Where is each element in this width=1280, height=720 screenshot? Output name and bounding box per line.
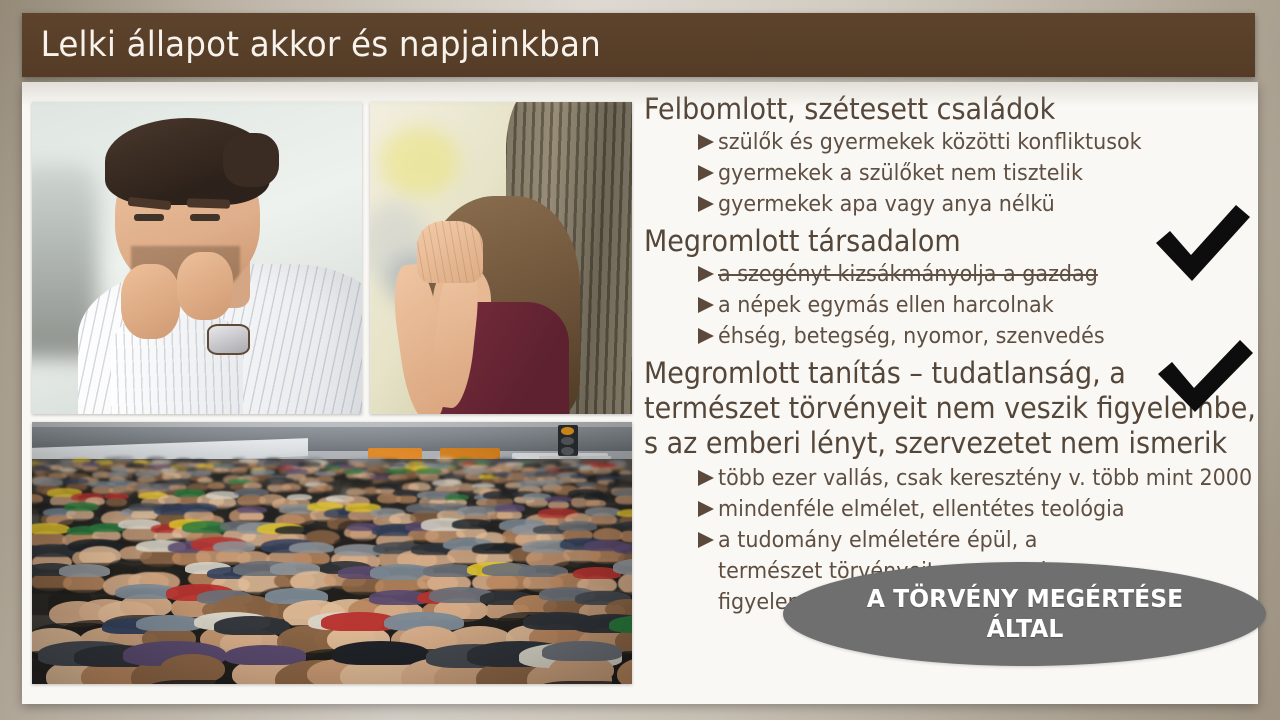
list-item: a népek egymás ellen harcolnak: [644, 290, 1258, 321]
list-item-label: a népek egymás ellen harcolnak: [718, 290, 1054, 321]
triangle-bullet-icon: [698, 501, 714, 517]
list-item-label: a szegényt kizsákmányolja a gazdag: [718, 259, 1098, 290]
list-item: több ezer vallás, csak keresztény v. töb…: [644, 463, 1258, 494]
list-item-label: gyermekek a szülőket nem tisztelik: [718, 158, 1083, 189]
slide-content-panel: СТОП Felbomlott, szétesett családok szül…: [22, 82, 1258, 704]
checkmark-2: [1152, 338, 1258, 418]
crowd-photo: СТОП: [32, 422, 632, 684]
text-column: Felbomlott, szétesett családok szülők és…: [644, 86, 1258, 700]
triangle-bullet-icon: [698, 134, 714, 150]
list-item: gyermekek a szülőket nem tisztelik: [644, 158, 1258, 189]
callout-label: A TÖRVÉNY MEGÉRTÉSE ÁLTAL: [827, 584, 1222, 644]
triangle-bullet-icon: [698, 196, 714, 212]
list-item-label: több ezer vallás, csak keresztény v. töb…: [718, 463, 1252, 494]
list-item-label: mindenféle elmélet, ellentétes teológia: [718, 494, 1125, 525]
list-item: szülők és gyermekek közötti konfliktusok: [644, 127, 1258, 158]
triangle-bullet-icon: [698, 532, 714, 548]
heading-1: Felbomlott, szétesett családok: [644, 92, 1215, 127]
list-item-label: szülők és gyermekek közötti konfliktusok: [718, 127, 1142, 158]
checkmark-1: [1150, 203, 1254, 287]
list-item: mindenféle elmélet, ellentétes teológia: [644, 494, 1258, 525]
triangle-bullet-icon: [698, 328, 714, 344]
crying-woman-photo: [370, 102, 632, 414]
page-title: Lelki állapot akkor és napjainkban: [22, 25, 601, 65]
list-item-label: gyermekek apa vagy anya nélkü: [718, 189, 1055, 220]
slide-background: Lelki állapot akkor és napjainkban: [0, 0, 1280, 720]
title-bar: Lelki állapot akkor és napjainkban: [22, 13, 1255, 77]
triangle-bullet-icon: [698, 165, 714, 181]
triangle-bullet-icon: [698, 266, 714, 282]
thinking-man-photo: [32, 102, 362, 414]
photo-column: СТОП: [32, 92, 632, 692]
callout-oval: A TÖRVÉNY MEGÉRTÉSE ÁLTAL: [783, 562, 1266, 666]
triangle-bullet-icon: [698, 470, 714, 486]
triangle-bullet-icon: [698, 297, 714, 313]
heading-2: Megromlott társadalom: [644, 224, 1215, 259]
list-item-label: éhség, betegség, nyomor, szenvedés: [718, 321, 1105, 352]
